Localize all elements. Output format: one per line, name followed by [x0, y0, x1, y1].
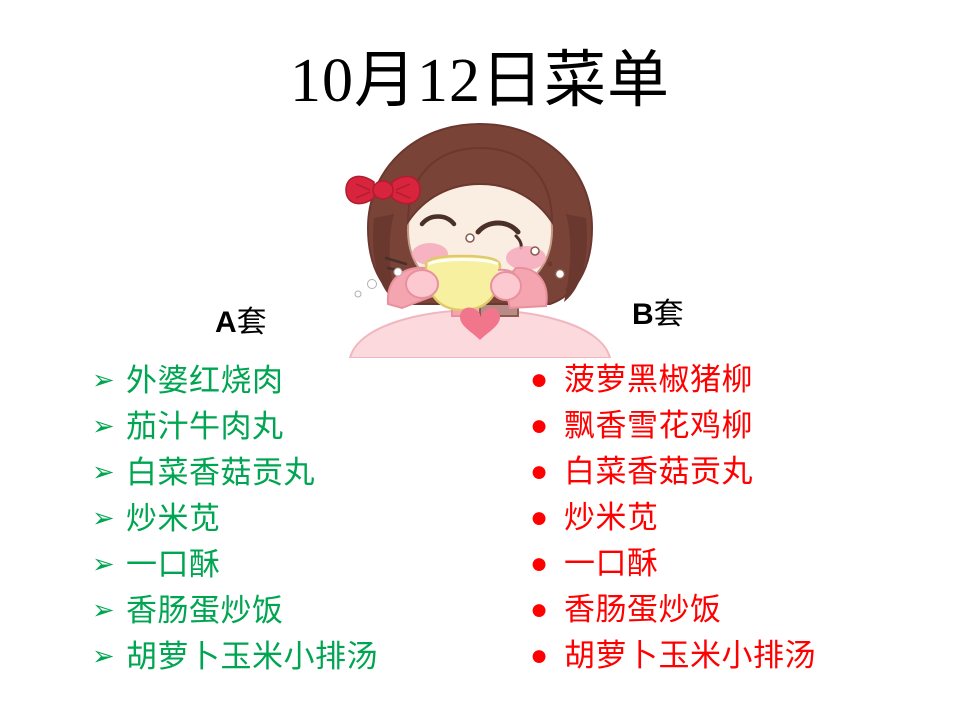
menu-item-label: 炒米苋: [564, 495, 659, 541]
list-item: ➢茄汁牛肉丸: [92, 404, 492, 450]
red-disc-bullet-icon: ●: [530, 357, 564, 403]
menu-list-a: ➢外婆红烧肉 ➢茄汁牛肉丸 ➢白菜香菇贡丸 ➢炒米苋 ➢一口酥 ➢香肠蛋炒饭 ➢…: [92, 358, 492, 680]
list-item: ➢白菜香菇贡丸: [92, 450, 492, 496]
menu-item-label: 香肠蛋炒饭: [564, 587, 722, 633]
green-arrow-bullet-icon: ➢: [92, 357, 126, 403]
list-item: ➢香肠蛋炒饭: [92, 588, 492, 634]
menu-item-label: 白菜香菇贡丸: [126, 450, 315, 496]
list-item: ●白菜香菇贡丸: [530, 449, 930, 495]
list-item: ●飘香雪花鸡柳: [530, 403, 930, 449]
red-disc-bullet-icon: ●: [530, 541, 564, 587]
girl-drinking-illustration: [330, 118, 630, 358]
list-item: ➢炒米苋: [92, 496, 492, 542]
list-item: ●炒米苋: [530, 495, 930, 541]
list-item: ●香肠蛋炒饭: [530, 587, 930, 633]
green-arrow-bullet-icon: ➢: [92, 587, 126, 633]
menu-item-label: 菠萝黑椒猪柳: [564, 357, 753, 403]
column-header-a: A套: [215, 306, 267, 340]
column-a-suffix: 套: [237, 306, 267, 339]
menu-list-b: ●菠萝黑椒猪柳 ●飘香雪花鸡柳 ●白菜香菇贡丸 ●炒米苋 ●一口酥 ●香肠蛋炒饭…: [530, 357, 930, 679]
menu-item-label: 茄汁牛肉丸: [126, 404, 284, 450]
green-arrow-bullet-icon: ➢: [92, 403, 126, 449]
list-item: ➢一口酥: [92, 542, 492, 588]
page-title: 10月12日菜单: [0, 46, 960, 116]
list-item: ➢外婆红烧肉: [92, 358, 492, 404]
list-item: ●菠萝黑椒猪柳: [530, 357, 930, 403]
red-disc-bullet-icon: ●: [530, 449, 564, 495]
green-arrow-bullet-icon: ➢: [92, 541, 126, 587]
menu-item-label: 一口酥: [564, 541, 659, 587]
menu-item-label: 胡萝卜玉米小排汤: [564, 633, 816, 679]
list-item: ➢胡萝卜玉米小排汤: [92, 634, 492, 680]
red-disc-bullet-icon: ●: [530, 587, 564, 633]
menu-item-label: 一口酥: [126, 542, 221, 588]
menu-item-label: 炒米苋: [126, 496, 221, 542]
column-header-b: B套: [632, 298, 684, 332]
green-arrow-bullet-icon: ➢: [92, 633, 126, 679]
list-item: ●一口酥: [530, 541, 930, 587]
green-arrow-bullet-icon: ➢: [92, 495, 126, 541]
menu-slide: 10月12日菜单: [0, 0, 960, 720]
column-a-letter: A: [215, 306, 237, 339]
column-b-suffix: 套: [654, 298, 684, 331]
column-b-letter: B: [632, 298, 654, 331]
red-disc-bullet-icon: ●: [530, 495, 564, 541]
menu-item-label: 外婆红烧肉: [126, 358, 284, 404]
menu-item-label: 白菜香菇贡丸: [564, 449, 753, 495]
green-arrow-bullet-icon: ➢: [92, 449, 126, 495]
red-disc-bullet-icon: ●: [530, 633, 564, 679]
list-item: ●胡萝卜玉米小排汤: [530, 633, 930, 679]
menu-item-label: 香肠蛋炒饭: [126, 588, 284, 634]
menu-item-label: 胡萝卜玉米小排汤: [126, 634, 378, 680]
menu-item-label: 飘香雪花鸡柳: [564, 403, 753, 449]
hair-bow-icon: [346, 176, 420, 203]
red-disc-bullet-icon: ●: [530, 403, 564, 449]
